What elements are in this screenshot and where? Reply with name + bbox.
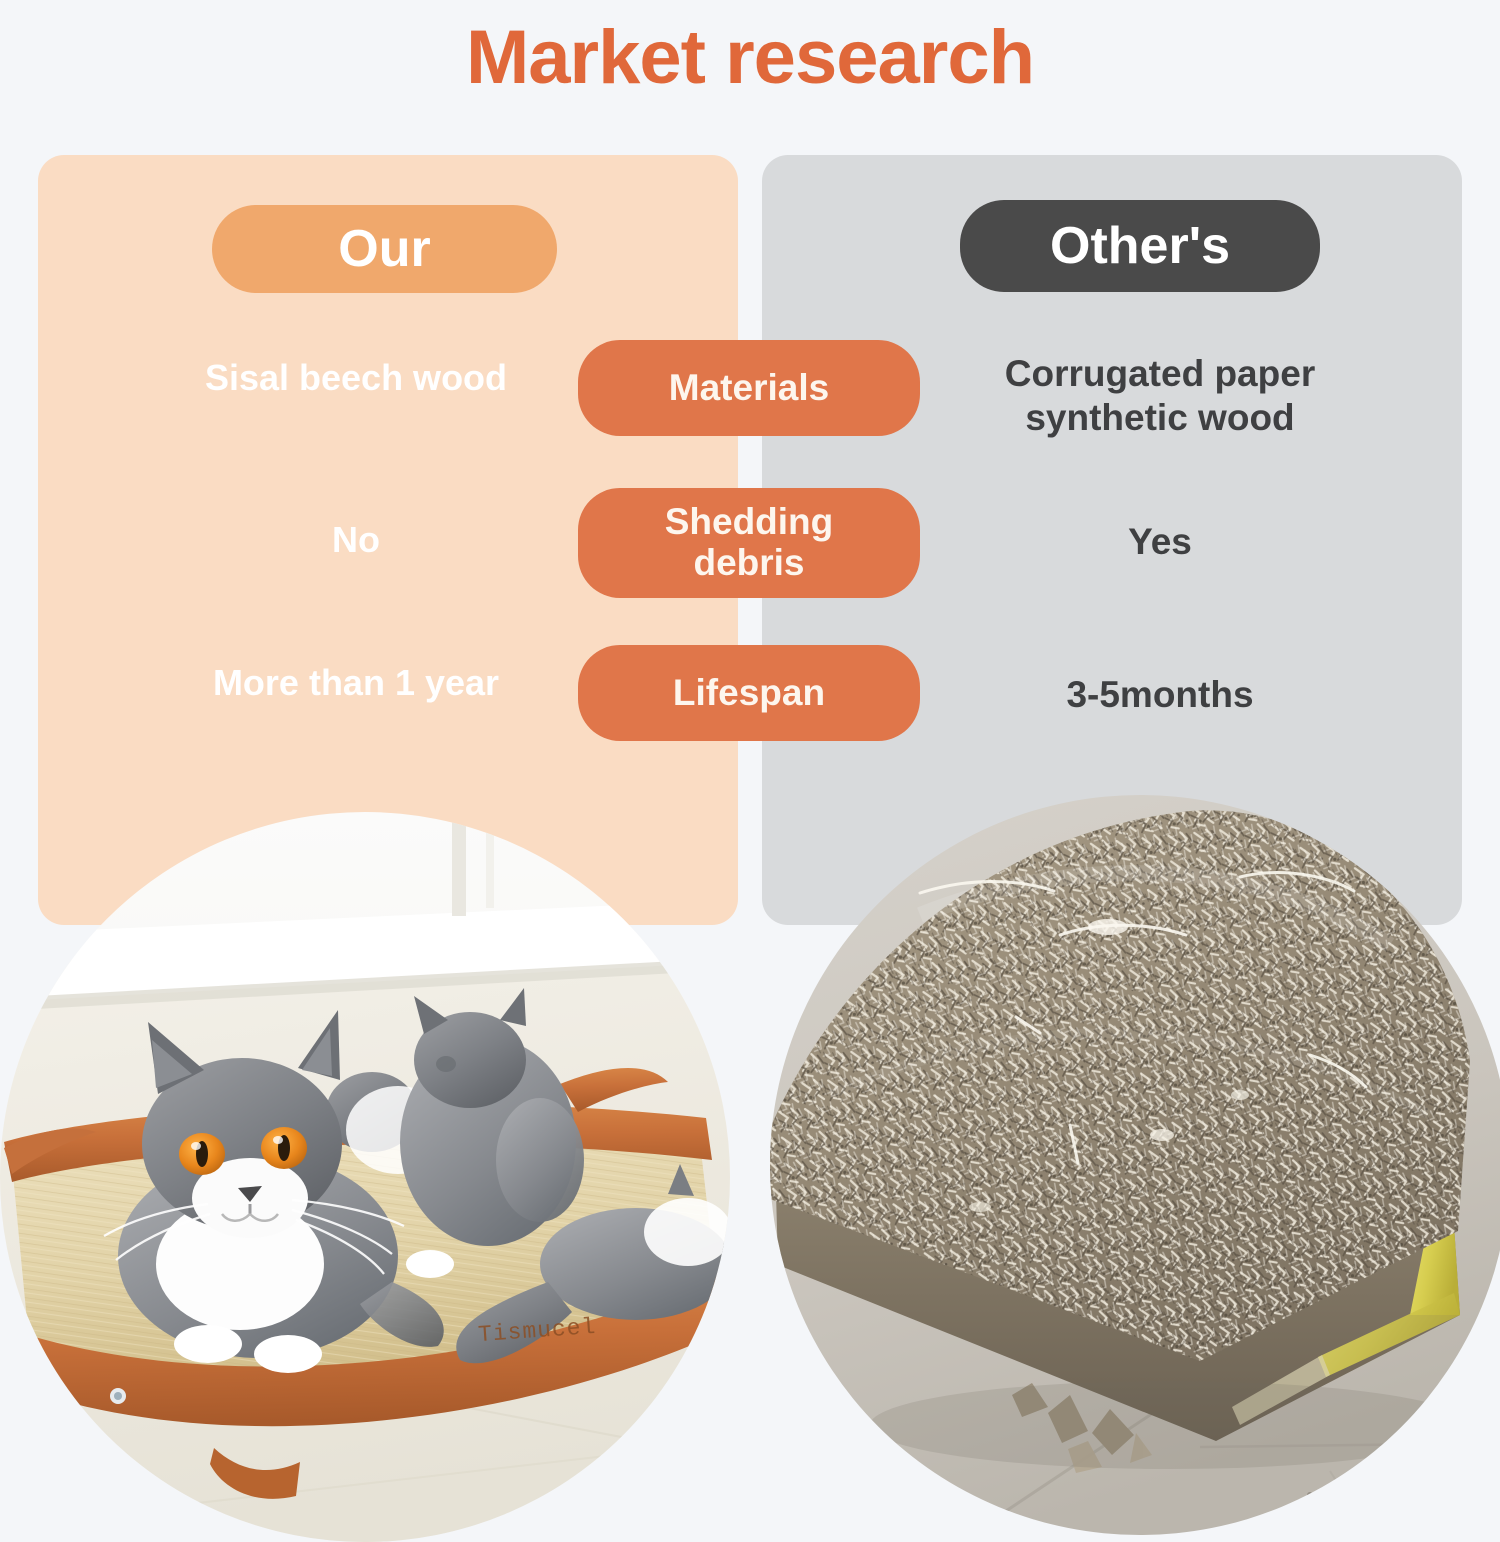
- other-value: Yes: [930, 520, 1390, 564]
- attribute-pill: Lifespan: [578, 645, 920, 741]
- other-value: Corrugated papersynthetic wood: [930, 352, 1390, 441]
- our-value: More than 1 year: [146, 663, 566, 703]
- others-product-photo: [770, 795, 1500, 1535]
- page-title: Market research: [0, 14, 1500, 101]
- attribute-pill: Sheddingdebris: [578, 488, 920, 598]
- comparison-row: No Sheddingdebris Yes: [0, 488, 1500, 588]
- others-header-pill: Other's: [960, 200, 1320, 292]
- our-product-photo: [0, 812, 730, 1542]
- our-value: No: [146, 520, 566, 560]
- comparison-row: More than 1 year Lifespan 3-5months: [0, 645, 1500, 745]
- comparison-row: Sisal beech wood Materials Corrugated pa…: [0, 340, 1500, 440]
- our-value: Sisal beech wood: [146, 358, 566, 398]
- other-value: 3-5months: [930, 673, 1390, 717]
- our-header-pill: Our: [212, 205, 557, 293]
- attribute-pill: Materials: [578, 340, 920, 436]
